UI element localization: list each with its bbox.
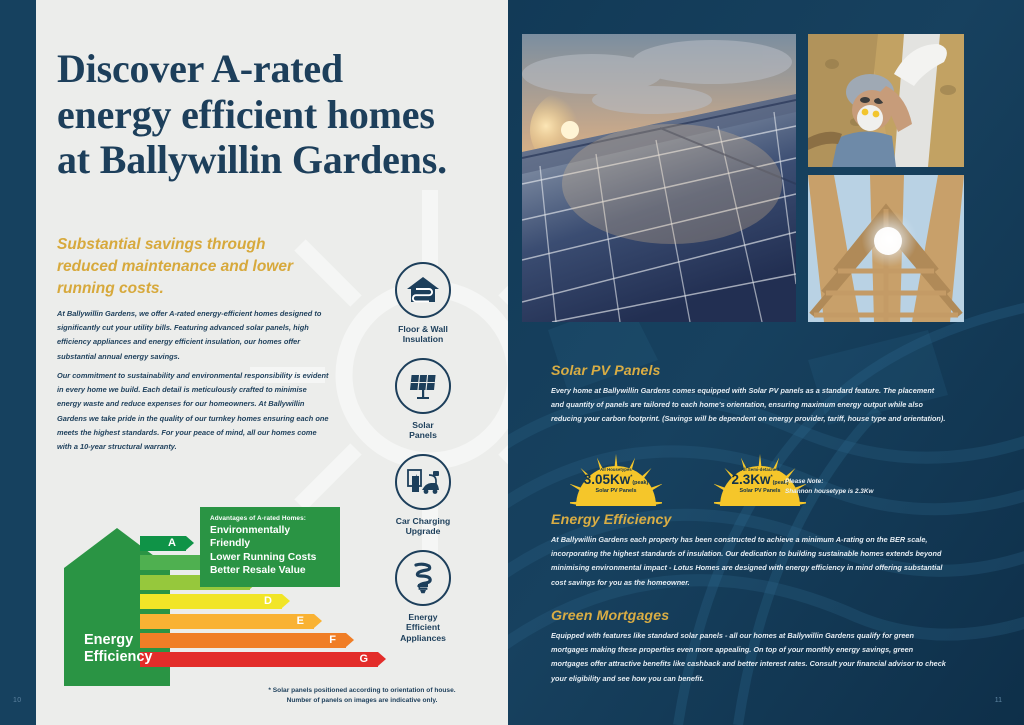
roof-timber-frame-photo: [808, 175, 964, 322]
bar-letter: A: [168, 536, 176, 551]
right-page-number: 11: [995, 697, 1002, 704]
bar-arrow-tip: [282, 594, 290, 608]
bar-fill: [140, 614, 314, 629]
section-body: At Ballywillin Gardens each property has…: [551, 533, 949, 590]
solar-panel-footnote: * Solar panels positioned according to o…: [230, 686, 494, 706]
bar-fill: [140, 652, 378, 667]
feature-icons-list: Floor & Wall Insulation: [368, 262, 478, 643]
bar-arrow-tip: [314, 614, 322, 628]
intro-paragraph-1: At Ballywillin Gardens, we offer A-rated…: [57, 307, 329, 364]
section-body: Equipped with features like standard sol…: [551, 629, 949, 686]
left-page-edge-strip: [0, 0, 36, 725]
page-title: Discover A-rated energy efficient homes …: [57, 46, 457, 183]
brochure-spread: 10 Discover A-rated energy efficient hom…: [0, 0, 1024, 725]
bar-fill: [140, 536, 186, 551]
intro-paragraph-2: Our commitment to sustainability and env…: [57, 369, 329, 454]
section-energy-efficiency: Energy Efficiency At Ballywillin Gardens…: [551, 512, 949, 590]
section-title: Energy Efficiency: [551, 512, 949, 528]
advantage-item: Better Resale Value: [210, 564, 331, 577]
cfl-bulb-icon: [395, 550, 451, 606]
feature-label: Floor & Wall Insulation: [398, 324, 448, 345]
feature-label: Car Charging Upgrade: [396, 516, 450, 537]
feature-label: Solar Panels: [409, 420, 437, 441]
bar-arrow-tip: [186, 536, 194, 550]
please-note-text: Please Note: Shannon housetype is 2.3Kw: [785, 477, 873, 498]
bar-letter: D: [264, 594, 272, 609]
solar-output-badge: All Housetypes3.05Kw*(peak)Solar PV Pane…: [570, 450, 662, 506]
badge-subtitle: Solar PV Panels: [570, 488, 662, 494]
advantage-item: Environmentally Friendly: [210, 524, 331, 551]
energy-rating-bar-f: F: [140, 633, 346, 648]
solar-output-badges: All Housetypes3.05Kw*(peak)Solar PV Pane…: [570, 450, 806, 506]
bar-letter: E: [297, 614, 304, 629]
left-page: 10 Discover A-rated energy efficient hom…: [0, 0, 508, 725]
feature-label: Energy Efficient Appliances: [400, 612, 446, 643]
insulation-installer-photo: [808, 34, 964, 167]
feature-floor-wall-insulation: Floor & Wall Insulation: [368, 262, 478, 345]
badge-kw-value: 3.05Kw*(peak): [570, 473, 662, 487]
energy-rating-bar-g: G: [140, 652, 378, 667]
section-solar-pv-panels: Solar PV Panels Every home at Ballywilli…: [551, 363, 949, 427]
bar-letter: F: [329, 633, 336, 648]
right-page: Solar PV Panels Every home at Ballywilli…: [508, 0, 1024, 725]
energy-rating-bar-e: E: [140, 614, 314, 629]
solar-panel-icon: [395, 358, 451, 414]
feature-solar-panels: Solar Panels: [368, 358, 478, 441]
advantages-box: Advantages of A-rated Homes: Environment…: [200, 507, 340, 587]
section-green-mortgages: Green Mortgages Equipped with features l…: [551, 608, 949, 686]
left-page-number: 10: [13, 697, 21, 704]
bar-arrow-tip: [346, 633, 354, 647]
energy-efficiency-label: Energy Efficiency: [84, 632, 153, 667]
ev-charger-icon: [395, 454, 451, 510]
solar-panels-sunset-photo: [522, 34, 796, 322]
section-body: Every home at Ballywillin Gardens comes …: [551, 384, 949, 427]
advantages-title: Advantages of A-rated Homes:: [210, 515, 331, 522]
section-title: Green Mortgages: [551, 608, 949, 624]
bar-letter: G: [359, 652, 368, 667]
subheadline: Substantial savings through reduced main…: [57, 234, 317, 300]
energy-rating-bar-a: A: [140, 536, 186, 551]
feature-car-charging-upgrade: Car Charging Upgrade: [368, 454, 478, 537]
bar-fill: [140, 594, 282, 609]
energy-rating-bar-d: D: [140, 594, 282, 609]
bar-fill: [140, 633, 346, 648]
advantage-item: Lower Running Costs: [210, 551, 331, 564]
feature-energy-efficient-appliances: Energy Efficient Appliances: [368, 550, 478, 643]
badge-text-group: All Housetypes3.05Kw*(peak)Solar PV Pane…: [570, 467, 662, 494]
section-title: Solar PV Panels: [551, 363, 949, 379]
bar-arrow-tip: [378, 652, 386, 666]
house-insulation-icon: [395, 262, 451, 318]
